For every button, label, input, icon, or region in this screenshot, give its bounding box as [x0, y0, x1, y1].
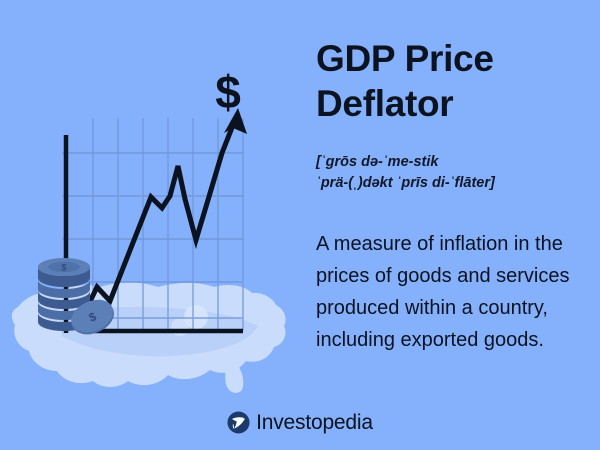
dollar-sign-icon: $	[215, 66, 241, 118]
illustration: $ $ $	[0, 0, 300, 450]
coin-dollar-glyph: $	[61, 263, 66, 273]
investopedia-circle-swoosh-icon	[227, 411, 250, 434]
investopedia-wordmark: Investopedia	[256, 411, 373, 434]
definition-card: $ $ $ GDP Price Deflator	[0, 0, 600, 450]
text-column: GDP Price Deflator [ˈgrōs də-ˈme-stik ˈp…	[316, 0, 584, 450]
page-title: GDP Price Deflator	[316, 36, 584, 126]
pronunciation-text: [ˈgrōs də-ˈme-stik ˈprä-(ˌ)dəkt ˈprīs di…	[316, 152, 584, 194]
us-map-silhouette	[12, 283, 286, 393]
investopedia-logo[interactable]: Investopedia	[0, 406, 600, 438]
definition-text: A measure of inflation in the prices of …	[316, 228, 584, 356]
